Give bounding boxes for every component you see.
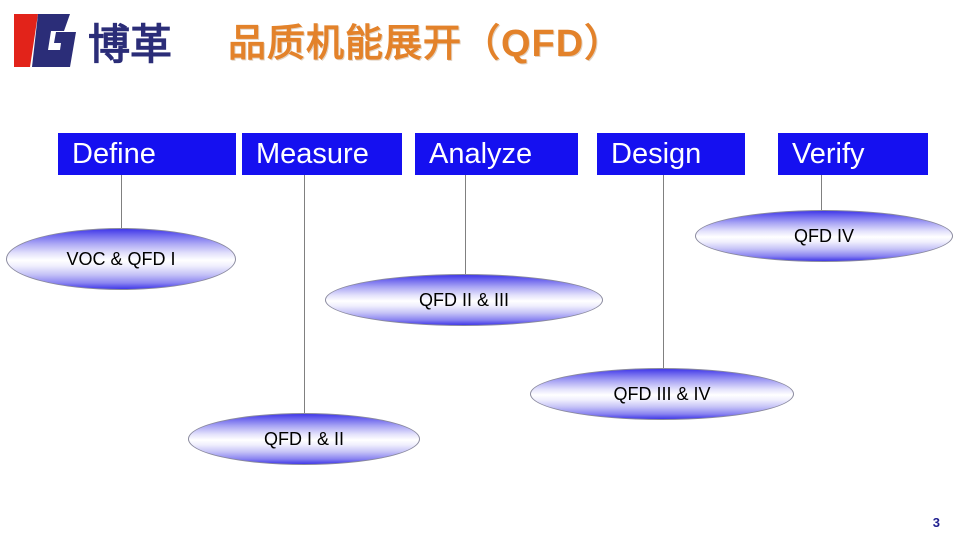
ellipse-label-qfd-2-3: QFD II & III [395,289,533,312]
ellipse-qfd-1-2[interactable]: QFD I & II [188,413,420,465]
ellipse-qfd-3-4[interactable]: QFD III & IV [530,368,794,420]
company-logo: 博革 [8,12,203,70]
page-number: 3 [933,515,940,530]
ellipse-label-qfd-4: QFD IV [770,225,878,248]
phase-box-measure[interactable]: Measure [242,133,402,175]
connector-measure [304,175,305,434]
phase-box-define[interactable]: Define [58,133,236,175]
logo-wordmark: 博革 [88,20,172,69]
logo-navy-mark [32,14,76,67]
phase-box-analyze[interactable]: Analyze [415,133,578,175]
ellipse-voc-qfd-1[interactable]: VOC & QFD I [6,228,236,290]
phase-box-design[interactable]: Design [597,133,745,175]
page-title: 品质机能展开（QFD） [228,16,698,72]
phase-box-verify[interactable]: Verify [778,133,928,175]
connector-verify [821,175,822,213]
ellipse-qfd-4[interactable]: QFD IV [695,210,953,262]
ellipse-label-voc-qfd-1: VOC & QFD I [42,246,199,273]
boge-logo-svg: 博革 [8,12,203,70]
ellipse-qfd-2-3[interactable]: QFD II & III [325,274,603,326]
ellipse-label-qfd-1-2: QFD I & II [240,428,368,451]
connector-design [663,175,664,382]
ellipse-label-qfd-3-4: QFD III & IV [589,383,734,406]
slide-canvas: 博革 品质机能展开（QFD） DefineMeasureAnalyzeDesig… [0,0,960,540]
